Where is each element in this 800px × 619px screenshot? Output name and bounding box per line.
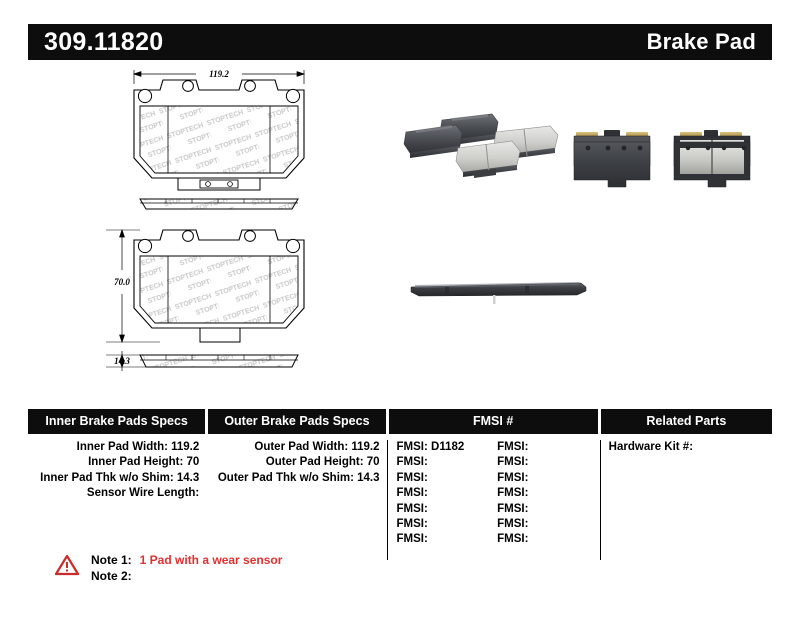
fmsi-subcolumn-right: FMSI: FMSI: FMSI: FMSI: FMSI: FMSI: FMSI…: [497, 440, 598, 548]
outer-spec-row: Outer Pad Height: 70: [208, 455, 379, 470]
pad-photo-2: [404, 125, 462, 158]
note-1-value: 1 Pad with a wear sensor: [140, 552, 283, 568]
fmsi-row: FMSI:: [497, 471, 598, 486]
column-divider-1: [387, 440, 388, 560]
fmsi-row: FMSI:: [497, 502, 598, 517]
fmsi-row: FMSI:: [397, 471, 498, 486]
fmsi-row: FMSI:: [497, 532, 598, 547]
outer-specs-column: Outer Pad Width: 119.2 Outer Pad Height:…: [208, 440, 385, 548]
inner-spec-row: Inner Pad Height: 70: [28, 455, 199, 470]
specs-table-body: Inner Pad Width: 119.2 Inner Pad Height:…: [28, 440, 772, 548]
note-row-2: Note 2:: [91, 568, 282, 584]
fmsi-row: FMSI:: [497, 455, 598, 470]
pad-grid-bottom-right: [674, 142, 750, 187]
fmsi-row: FMSI:: [397, 486, 498, 501]
dimension-height-label: 70.0: [114, 277, 130, 287]
dimension-width-label: 119.2: [209, 69, 229, 79]
inner-spec-row: Sensor Wire Length:: [28, 486, 199, 501]
related-part-row: Hardware Kit #:: [609, 440, 772, 455]
part-number: 309.11820: [44, 28, 164, 57]
outer-spec-row: Outer Pad Width: 119.2: [208, 440, 379, 455]
cad-front-view-top: STOPTECH STOPTECH 119.2: [100, 66, 350, 211]
fmsi-row: FMSI:: [397, 455, 498, 470]
fmsi-row: FMSI: D1182: [397, 440, 498, 455]
fmsi-row: FMSI:: [497, 440, 598, 455]
cad-front-view-bottom: STOPTECH STOPTECH: [100, 212, 350, 372]
inner-spec-row: Inner Pad Thk w/o Shim: 14.3: [28, 471, 199, 486]
fmsi-row: FMSI:: [397, 502, 498, 517]
inner-spec-row: Inner Pad Width: 119.2: [28, 440, 199, 455]
header-inner-specs: Inner Brake Pads Specs: [28, 409, 205, 434]
note-2-label: Note 2:: [91, 568, 132, 584]
fmsi-row: FMSI:: [497, 517, 598, 532]
illustration-area: STOPTECH STOPTECH 119.2: [0, 64, 800, 389]
fmsi-row: FMSI:: [397, 517, 498, 532]
pad-photo-4: [456, 141, 520, 178]
warning-icon: [55, 554, 79, 576]
related-parts-column: Hardware Kit #:: [601, 440, 772, 548]
spec-sheet: 309.11820 Brake Pad STOPTECH STOPTECH: [0, 0, 800, 619]
product-type: Brake Pad: [647, 29, 756, 55]
pad-outline-top: [134, 80, 304, 190]
specs-table-header-row: Inner Brake Pads Specs Outer Brake Pads …: [28, 409, 772, 434]
header-related-parts: Related Parts: [601, 409, 772, 434]
fmsi-subcolumn-left: FMSI: D1182 FMSI: FMSI: FMSI: FMSI: FMSI…: [397, 440, 498, 548]
pad-edge-view-top: [140, 199, 298, 209]
fmsi-row: FMSI:: [497, 486, 598, 501]
inner-specs-column: Inner Pad Width: 119.2 Inner Pad Height:…: [28, 440, 205, 548]
header-fmsi: FMSI #: [389, 409, 598, 434]
header-bar: 309.11820 Brake Pad: [28, 24, 772, 60]
photo-pad-edge: [405, 269, 590, 314]
outer-spec-row: Outer Pad Thk w/o Shim: 14.3: [208, 471, 379, 486]
fmsi-row: FMSI:: [397, 532, 498, 547]
photo-pads-angled: [400, 92, 570, 192]
pad-grid-bottom-left: [574, 142, 650, 187]
column-divider-2: [600, 440, 601, 560]
note-1-label: Note 1:: [91, 552, 132, 568]
note-lines: Note 1: 1 Pad with a wear sensor Note 2:: [91, 552, 282, 584]
dimension-thickness-label: 14.3: [114, 356, 130, 366]
note-row-1: Note 1: 1 Pad with a wear sensor: [91, 552, 282, 568]
pad-outline-bottom: [134, 230, 304, 342]
pad-edge-view-bottom: [140, 355, 298, 367]
fmsi-column: FMSI: D1182 FMSI: FMSI: FMSI: FMSI: FMSI…: [389, 440, 598, 548]
specs-table: Inner Brake Pads Specs Outer Brake Pads …: [28, 409, 772, 548]
notes-section: Note 1: 1 Pad with a wear sensor Note 2:: [55, 552, 282, 584]
header-outer-specs: Outer Brake Pads Specs: [208, 409, 385, 434]
photo-pads-grid: [568, 90, 758, 197]
